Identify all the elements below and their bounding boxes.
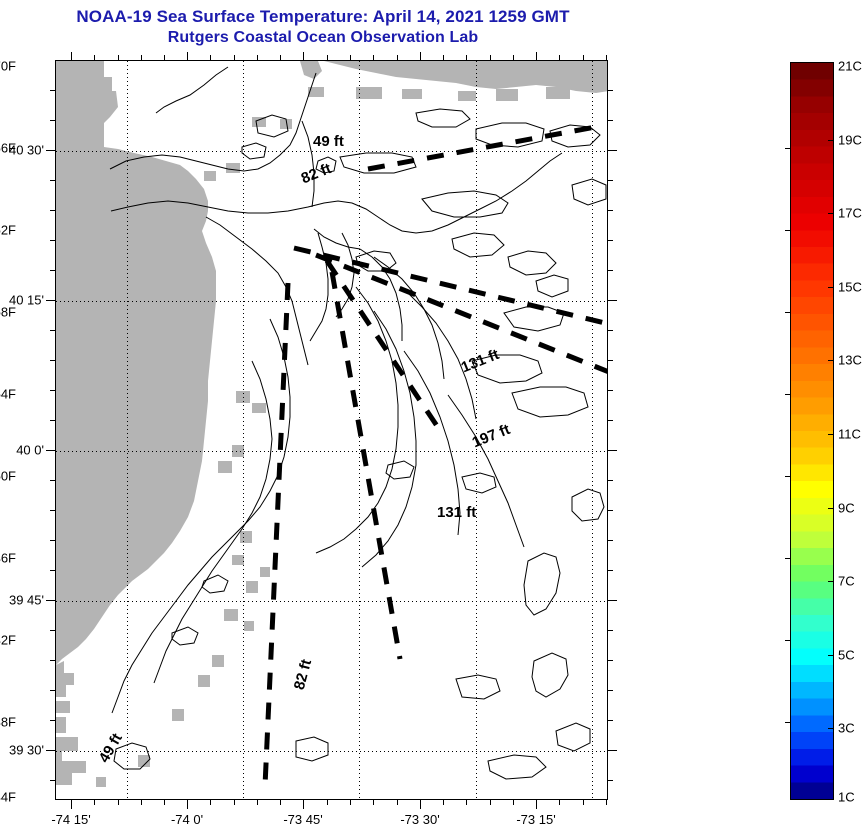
- cb-label-50F: 50F: [0, 469, 16, 484]
- y-tick-minor: [50, 330, 55, 331]
- sst-map-figure: NOAA-19 Sea Surface Temperature: April 1…: [0, 0, 864, 832]
- x-tick-top-minor: [583, 55, 584, 60]
- cb-label-46F: 46F: [0, 551, 16, 566]
- x-tick-top-minor: [350, 55, 351, 60]
- y-tick-right-minor: [608, 390, 613, 391]
- cb-tick-c: [828, 434, 834, 435]
- y-tick-right-minor: [608, 690, 613, 691]
- cb-tick-c: [828, 213, 834, 214]
- cb-label-54F: 54F: [0, 387, 16, 402]
- map-canvas: 49 ft 82 ft 131 ft 197 ft 131 ft 82 ft 4…: [56, 61, 607, 799]
- cb-label-17C: 17C: [838, 206, 862, 221]
- x-tick-top-major: [420, 52, 421, 61]
- cb-label-19C: 19C: [838, 133, 862, 148]
- gridline-lon-73-15: [592, 61, 593, 799]
- cb-tick-c: [828, 508, 834, 509]
- y-tick-right-major: [608, 750, 617, 751]
- y-tick-right-minor: [608, 480, 613, 481]
- gridline-lon-73-30: [476, 61, 477, 799]
- x-tick-minor: [164, 800, 165, 805]
- depth-annotation-131ft-south: 131 ft: [437, 504, 476, 521]
- y-tick-minor: [50, 690, 55, 691]
- y-axis-label-39-30: 39 30': [0, 743, 44, 758]
- gridline-lon-73-45: [359, 61, 360, 799]
- y-tick-minor: [50, 180, 55, 181]
- cb-label-66F: 66F: [0, 141, 16, 156]
- x-tick-major: [187, 800, 188, 809]
- cb-tick-f: [785, 394, 791, 395]
- x-tick-top-minor: [513, 55, 514, 60]
- y-tick-right-minor: [608, 120, 613, 121]
- x-tick-top-minor: [397, 55, 398, 60]
- y-tick-right-major: [608, 150, 617, 151]
- x-axis-label-74-00: -74 0': [171, 812, 203, 827]
- cb-label-21C: 21C: [838, 59, 862, 74]
- x-axis-label-73-15: -73 15': [516, 812, 555, 827]
- y-tick-minor: [50, 720, 55, 721]
- x-tick-top-minor: [443, 55, 444, 60]
- y-tick-minor: [50, 210, 55, 211]
- cb-tick-c: [828, 360, 834, 361]
- y-tick-major: [46, 450, 55, 451]
- x-tick-minor: [583, 800, 584, 805]
- y-tick-right-minor: [608, 780, 613, 781]
- cb-label-9C: 9C: [838, 501, 855, 516]
- x-tick-top-minor: [94, 55, 95, 60]
- cb-tick-f: [785, 640, 791, 641]
- x-tick-top-minor: [118, 55, 119, 60]
- x-tick-minor: [280, 800, 281, 805]
- cb-label-3C: 3C: [838, 721, 855, 736]
- x-tick-minor: [373, 800, 374, 805]
- x-tick-top-minor: [280, 55, 281, 60]
- gridline-lon-74-15: [127, 61, 128, 799]
- gridline-lat-40-15: [56, 301, 607, 302]
- y-tick-minor: [50, 510, 55, 511]
- y-tick-minor: [50, 540, 55, 541]
- y-tick-right-minor: [608, 360, 613, 361]
- x-axis-label-73-45: -73 45': [283, 812, 322, 827]
- cb-label-5C: 5C: [838, 648, 855, 663]
- y-tick-minor: [50, 660, 55, 661]
- y-tick-right-minor: [608, 270, 613, 271]
- y-tick-right-minor: [608, 180, 613, 181]
- cb-label-7C: 7C: [838, 574, 855, 589]
- cb-label-1C: 1C: [838, 790, 855, 805]
- y-tick-right-minor: [608, 240, 613, 241]
- cb-label-34F: 34F: [0, 790, 16, 805]
- y-tick-minor: [50, 120, 55, 121]
- y-tick-major: [46, 750, 55, 751]
- x-tick-major: [303, 800, 304, 809]
- y-tick-minor: [50, 570, 55, 571]
- land-mask-polygons: [56, 61, 608, 787]
- y-tick-major: [46, 300, 55, 301]
- x-tick-top-minor: [164, 55, 165, 60]
- y-tick-minor: [50, 480, 55, 481]
- x-tick-top-minor: [490, 55, 491, 60]
- y-tick-right-minor: [608, 660, 613, 661]
- y-tick-minor: [50, 780, 55, 781]
- y-tick-right-minor: [608, 210, 613, 211]
- y-tick-right-minor: [608, 570, 613, 571]
- cb-label-70F: 70F: [0, 59, 16, 74]
- y-tick-right-minor: [608, 630, 613, 631]
- colorbar-gradient: [791, 63, 833, 799]
- x-tick-top-minor: [606, 55, 607, 60]
- y-tick-minor: [50, 420, 55, 421]
- cb-tick-c: [828, 287, 834, 288]
- x-tick-major: [420, 800, 421, 809]
- y-axis-label-40-00: 40 0': [0, 443, 44, 458]
- y-tick-right-minor: [608, 330, 613, 331]
- x-tick-minor: [234, 800, 235, 805]
- y-tick-right-minor: [608, 420, 613, 421]
- x-tick-minor: [397, 800, 398, 805]
- colorbar-frame: [790, 62, 834, 800]
- x-tick-top-minor: [559, 55, 560, 60]
- depth-annotation-49ft-north: 49 ft: [313, 133, 344, 150]
- x-tick-minor: [443, 800, 444, 805]
- x-tick-top-minor: [257, 55, 258, 60]
- cb-tick-f: [785, 722, 791, 723]
- cb-tick-c: [828, 728, 834, 729]
- gridline-lat-39-30: [56, 751, 607, 752]
- cb-tick-f: [785, 476, 791, 477]
- gridline-lat-40-00: [56, 451, 607, 452]
- cb-tick-c: [828, 140, 834, 141]
- transect-lines-group: [265, 126, 608, 786]
- gridline-lat-40-30: [56, 151, 607, 152]
- cb-label-42F: 42F: [0, 633, 16, 648]
- x-tick-top-major: [71, 52, 72, 61]
- x-axis-label-73-30: -73 30': [400, 812, 439, 827]
- y-axis-label-39-45: 39 45': [0, 593, 44, 608]
- x-tick-major: [71, 800, 72, 809]
- y-tick-right-major: [608, 450, 617, 451]
- title-line-1: NOAA-19 Sea Surface Temperature: April 1…: [0, 6, 646, 27]
- y-tick-right-major: [608, 600, 617, 601]
- transect-ne: [368, 126, 601, 169]
- x-tick-top-major: [303, 52, 304, 61]
- x-tick-minor: [490, 800, 491, 805]
- y-tick-right-minor: [608, 720, 613, 721]
- y-tick-minor: [50, 270, 55, 271]
- x-tick-top-minor: [141, 55, 142, 60]
- cb-label-38F: 38F: [0, 715, 16, 730]
- y-tick-minor: [50, 360, 55, 361]
- x-tick-top-minor: [466, 55, 467, 60]
- temperature-colorbar[interactable]: [790, 62, 834, 800]
- x-tick-top-minor: [234, 55, 235, 60]
- x-tick-minor: [257, 800, 258, 805]
- gridline-lat-39-45: [56, 601, 607, 602]
- x-tick-minor: [118, 800, 119, 805]
- y-tick-right-major: [608, 300, 617, 301]
- y-tick-major: [46, 150, 55, 151]
- y-tick-right-minor: [608, 510, 613, 511]
- x-tick-top-major: [536, 52, 537, 61]
- cb-label-13C: 13C: [838, 353, 862, 368]
- y-tick-minor: [50, 90, 55, 91]
- cb-label-15C: 15C: [838, 280, 862, 295]
- x-tick-minor: [350, 800, 351, 805]
- transect-ssw: [265, 283, 288, 786]
- title-line-2: Rutgers Coastal Ocean Observation Lab: [0, 27, 646, 48]
- cb-label-58F: 58F: [0, 305, 16, 320]
- x-tick-major: [536, 800, 537, 809]
- y-tick-minor: [50, 240, 55, 241]
- x-tick-top-minor: [327, 55, 328, 60]
- y-tick-right-minor: [608, 540, 613, 541]
- y-tick-right-minor: [608, 90, 613, 91]
- x-tick-minor: [94, 800, 95, 805]
- cb-tick-f: [785, 148, 791, 149]
- x-tick-top-major: [187, 52, 188, 61]
- cb-tick-f: [785, 558, 791, 559]
- cb-label-62F: 62F: [0, 223, 16, 238]
- y-tick-minor: [50, 390, 55, 391]
- x-tick-minor: [559, 800, 560, 805]
- cb-tick-f: [785, 230, 791, 231]
- x-tick-minor: [513, 800, 514, 805]
- x-axis-label-74-15: -74 15': [51, 812, 90, 827]
- cb-label-11C: 11C: [838, 427, 861, 442]
- x-tick-minor: [210, 800, 211, 805]
- x-tick-top-minor: [373, 55, 374, 60]
- x-tick-top-minor: [210, 55, 211, 60]
- x-tick-minor: [327, 800, 328, 805]
- x-tick-minor: [466, 800, 467, 805]
- figure-title: NOAA-19 Sea Surface Temperature: April 1…: [0, 6, 646, 48]
- map-plot-area[interactable]: 49 ft 82 ft 131 ft 197 ft 131 ft 82 ft 4…: [55, 60, 608, 800]
- gridline-lon-74-00: [243, 61, 244, 799]
- cb-tick-f: [785, 312, 791, 313]
- x-tick-minor: [606, 800, 607, 805]
- cb-tick-c: [828, 655, 834, 656]
- x-tick-minor: [141, 800, 142, 805]
- y-tick-minor: [50, 630, 55, 631]
- y-tick-major: [46, 600, 55, 601]
- cb-tick-c: [828, 581, 834, 582]
